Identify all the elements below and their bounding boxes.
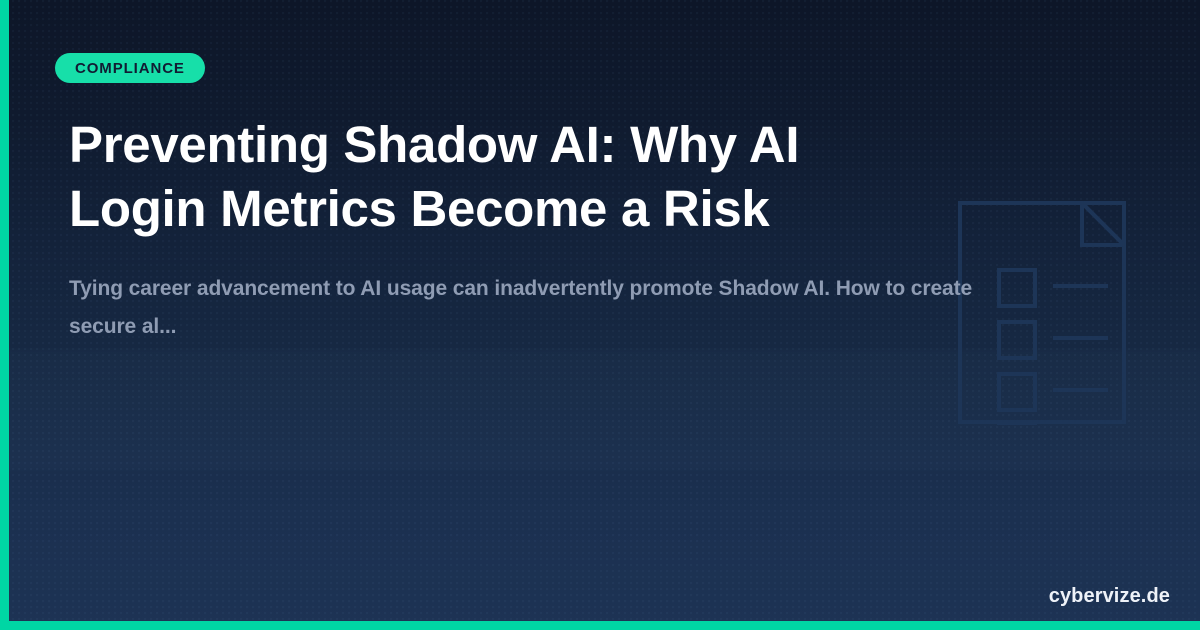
accent-bar-bottom (0, 621, 1200, 630)
checkbox-3 (999, 374, 1035, 410)
accent-bar-left (0, 0, 9, 630)
checkbox-1 (999, 270, 1035, 306)
category-badge: COMPLIANCE (55, 53, 205, 83)
page-subtitle: Tying career advancement to AI usage can… (69, 270, 999, 346)
page-title: Preventing Shadow AI: Why AI Login Metri… (69, 113, 929, 241)
document-fold-diagonal (1082, 203, 1124, 245)
category-badge-label: COMPLIANCE (75, 60, 185, 77)
social-share-card: COMPLIANCE Preventing Shadow AI: Why AI … (0, 0, 1200, 630)
checkbox-2 (999, 322, 1035, 358)
site-domain-label: cybervize.de (1049, 585, 1170, 608)
